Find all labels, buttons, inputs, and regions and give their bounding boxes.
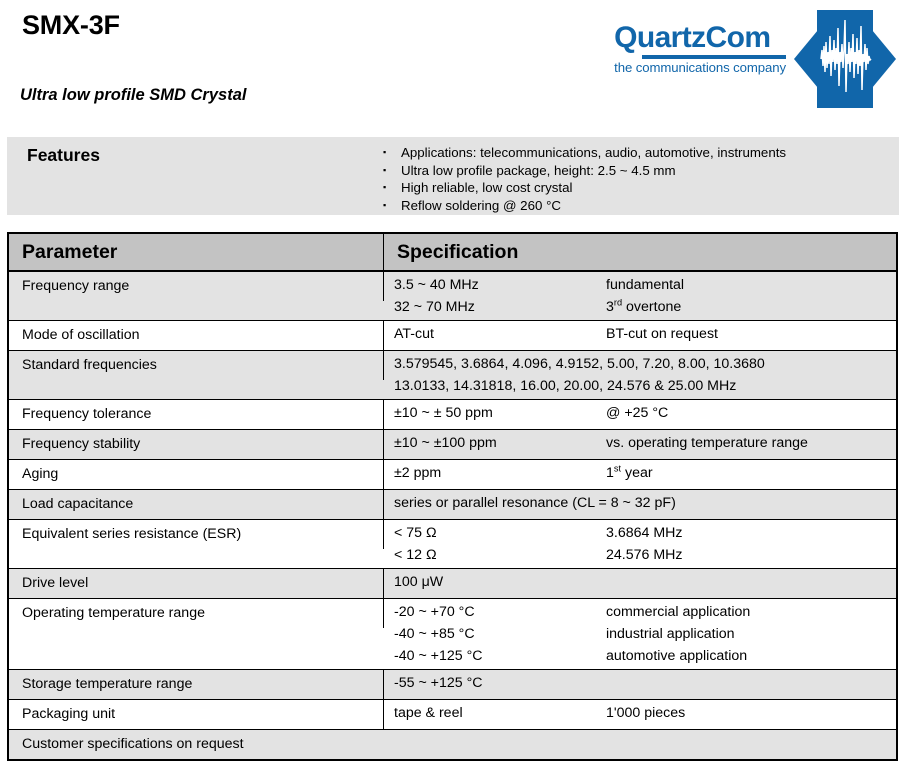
parameter-label: Aging [9,460,384,489]
bullet-square-icon: ▪ [379,179,401,197]
specification-note: 3rd overtone [606,298,681,317]
specification-value-group: -20 ~ +70 °Ccommercial application-40 ~ … [384,599,896,669]
specification-note: fundamental [606,276,684,295]
column-header-parameter: Parameter [9,234,384,270]
specification-value: < 75 Ω [394,524,606,543]
specification-value-group: ±10 ~ ±100 ppmvs. operating temperature … [384,430,896,456]
specification-value-group: AT-cutBT-cut on request [384,321,896,347]
specification-line: 3.579545, 3.6864, 4.096, 4.9152, 5.00, 7… [384,351,896,377]
logo-text-block: QuartzCom the communications company [614,6,792,76]
company-logo: QuartzCom the communications company [614,6,898,112]
parameter-label: Frequency stability [9,430,384,459]
specification-note: 3.6864 MHz [606,524,683,543]
parameter-label: Equivalent series resistance (ESR) [9,520,384,549]
specification-note: 24.576 MHz [606,546,683,565]
specification-line: -55 ~ +125 °C [384,670,896,696]
specification-value: -20 ~ +70 °C [394,603,606,622]
specification-note: commercial application [606,603,750,622]
table-row: Drive level100 μW [9,569,896,599]
feature-item-label: Reflow soldering @ 260 °C [401,197,561,215]
specification-value-group: 3.579545, 3.6864, 4.096, 4.9152, 5.00, 7… [384,351,896,399]
table-row: Load capacitanceseries or parallel reson… [9,490,896,520]
logo-waveform-mark [792,6,898,112]
specification-value: 32 ~ 70 MHz [394,298,606,317]
specification-value: -55 ~ +125 °C [394,674,606,693]
specification-value: -40 ~ +85 °C [394,625,606,644]
specification-line: tape & reel1'000 pieces [384,700,896,726]
specification-line: < 75 Ω3.6864 MHz [384,520,896,546]
specification-line: -40 ~ +85 °Cindustrial application [384,625,896,647]
specification-value-group: ±2 ppm1st year [384,460,896,486]
specification-line: -20 ~ +70 °Ccommercial application [384,599,896,625]
column-header-specification: Specification [384,234,896,270]
specification-value-group: 100 μW [384,569,896,595]
parameter-label: Standard frequencies [9,351,384,380]
datasheet-page: SMX-3F Ultra low profile SMD Crystal Qua… [0,0,906,767]
specification-note: 1st year [606,464,653,483]
parameter-label: Mode of oscillation [9,321,384,350]
specification-value-group: 3.5 ~ 40 MHzfundamental32 ~ 70 MHz3rd ov… [384,272,896,320]
parameter-label: Load capacitance [9,490,384,519]
table-header-row: Parameter Specification [9,234,896,271]
specification-table: Parameter Specification Frequency range3… [7,232,898,761]
table-row: Storage temperature range-55 ~ +125 °C [9,670,896,700]
parameter-label: Frequency range [9,272,384,301]
table-row: Equivalent series resistance (ESR)< 75 Ω… [9,520,896,569]
specification-value: ±10 ~ ±100 ppm [394,434,606,453]
table-footer-row: Customer specifications on request [9,730,896,760]
specification-value: series or parallel resonance (CL = 8 ~ 3… [394,494,676,513]
product-subtitle: Ultra low profile SMD Crystal [20,86,246,105]
parameter-label: Frequency tolerance [9,400,384,429]
table-row: Frequency tolerance±10 ~ ± 50 ppm@ +25 °… [9,400,896,430]
specification-value-group: -55 ~ +125 °C [384,670,896,696]
logo-wordmark: QuartzCom [614,23,786,53]
specification-value: ±10 ~ ± 50 ppm [394,404,606,423]
specification-value: 3.5 ~ 40 MHz [394,276,606,295]
specification-value-group: tape & reel1'000 pieces [384,700,896,726]
logo-underline-rule [642,55,786,59]
table-row: Standard frequencies3.579545, 3.6864, 4.… [9,351,896,400]
specification-note: vs. operating temperature range [606,434,808,453]
bullet-square-icon: ▪ [379,197,401,215]
table-row: Mode of oscillationAT-cutBT-cut on reque… [9,321,896,351]
specification-value: ±2 ppm [394,464,606,483]
specification-note: 1'000 pieces [606,704,685,723]
specification-value: 13.0133, 14.31818, 16.00, 20.00, 24.576 … [394,377,736,396]
feature-item-label: High reliable, low cost crystal [401,179,572,197]
specification-line: ±2 ppm1st year [384,460,896,486]
parameter-label: Packaging unit [9,700,384,729]
table-row: Frequency range3.5 ~ 40 MHzfundamental32… [9,271,896,321]
specification-line: 32 ~ 70 MHz3rd overtone [384,298,896,320]
feature-item: ▪Reflow soldering @ 260 °C [379,197,786,215]
table-row: Frequency stability±10 ~ ±100 ppmvs. ope… [9,430,896,460]
table-row: Packaging unittape & reel1'000 pieces [9,700,896,730]
specification-note: automotive application [606,647,747,666]
specification-value-group: series or parallel resonance (CL = 8 ~ 3… [384,490,896,516]
specification-note: BT-cut on request [606,325,718,344]
bullet-square-icon: ▪ [379,162,401,180]
parameter-label: Drive level [9,569,384,598]
specification-line: 3.5 ~ 40 MHzfundamental [384,272,896,298]
specification-value: < 12 Ω [394,546,606,565]
specification-line: ±10 ~ ±100 ppmvs. operating temperature … [384,430,896,456]
specification-line: series or parallel resonance (CL = 8 ~ 3… [384,490,896,516]
specification-note: @ +25 °C [606,404,668,423]
specification-value: tape & reel [394,704,606,723]
feature-item: ▪High reliable, low cost crystal [379,179,786,197]
specification-line: 100 μW [384,569,896,595]
customer-specifications-note: Customer specifications on request [9,730,896,759]
specification-line: ±10 ~ ± 50 ppm@ +25 °C [384,400,896,426]
features-panel: Features ▪Applications: telecommunicatio… [7,137,899,215]
specification-value: -40 ~ +125 °C [394,647,606,666]
specification-line: AT-cutBT-cut on request [384,321,896,347]
page-title: SMX-3F [22,10,120,41]
parameter-label: Storage temperature range [9,670,384,699]
specification-value: AT-cut [394,325,606,344]
table-row: Operating temperature range-20 ~ +70 °Cc… [9,599,896,670]
feature-item: ▪Ultra low profile package, height: 2.5 … [379,162,786,180]
feature-item-label: Ultra low profile package, height: 2.5 ~… [401,162,676,180]
feature-item: ▪Applications: telecommunications, audio… [379,144,786,162]
specification-line: < 12 Ω24.576 MHz [384,546,896,568]
specification-value: 100 μW [394,573,606,592]
feature-item-label: Applications: telecommunications, audio,… [401,144,786,162]
specification-line: -40 ~ +125 °Cautomotive application [384,647,896,669]
features-list: ▪Applications: telecommunications, audio… [379,144,786,214]
page-header: SMX-3F Ultra low profile SMD Crystal Qua… [0,0,906,130]
parameter-label: Operating temperature range [9,599,384,628]
specification-value-group: < 75 Ω3.6864 MHz< 12 Ω24.576 MHz [384,520,896,568]
features-heading: Features [27,145,100,166]
specification-value: 3.579545, 3.6864, 4.096, 4.9152, 5.00, 7… [394,355,765,374]
specification-note: industrial application [606,625,735,644]
logo-tagline: the communications company [614,61,786,76]
specification-value-group: ±10 ~ ± 50 ppm@ +25 °C [384,400,896,426]
bullet-square-icon: ▪ [379,144,401,162]
table-row: Aging±2 ppm1st year [9,460,896,490]
specification-line: 13.0133, 14.31818, 16.00, 20.00, 24.576 … [384,377,896,399]
